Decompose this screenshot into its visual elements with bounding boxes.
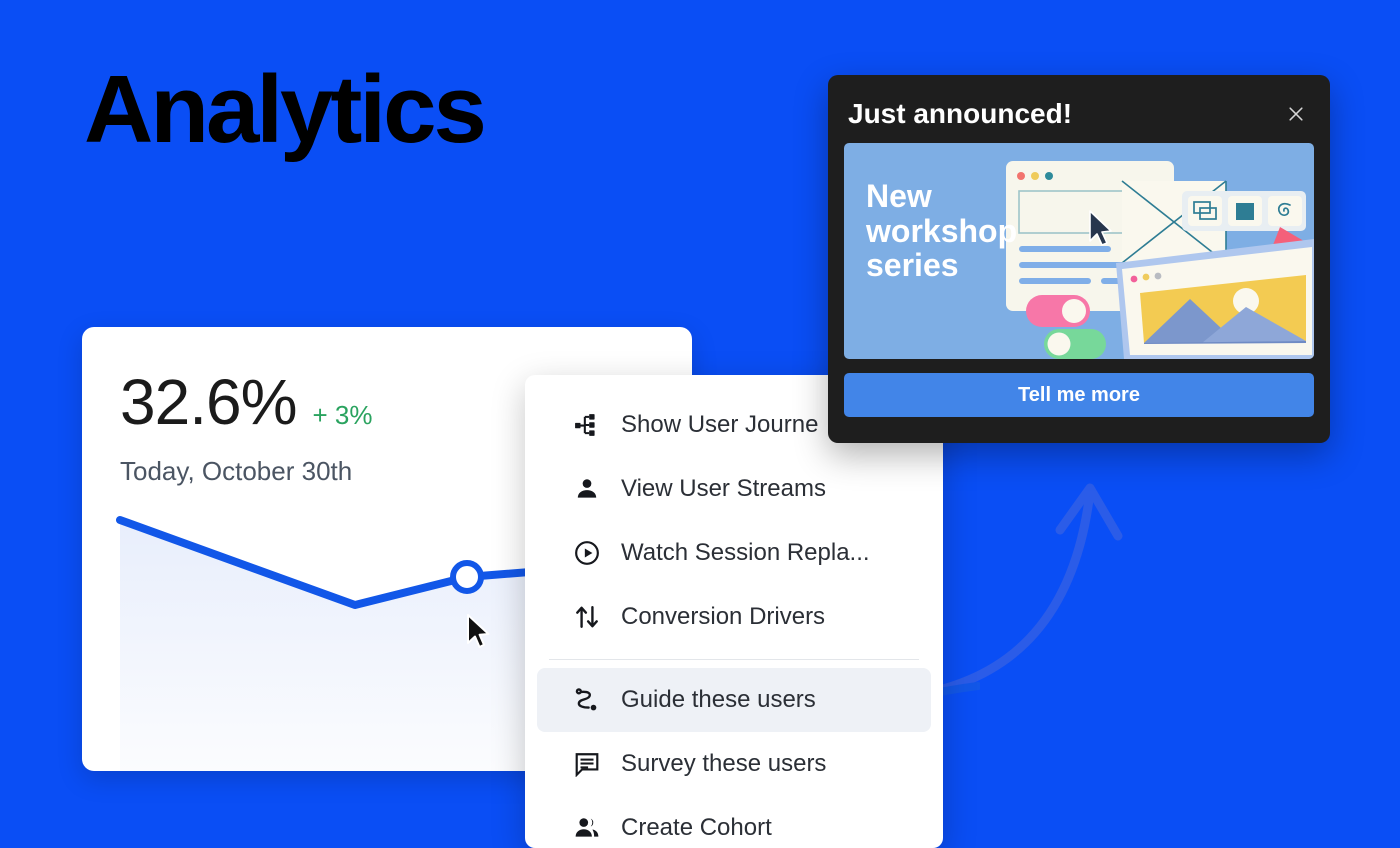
menu-item-survey-these-users[interactable]: Survey these users	[537, 732, 931, 796]
guide-path-icon	[573, 686, 601, 714]
media-text-line-2: workshop	[866, 214, 1017, 249]
media-text-line-1: New	[866, 179, 1017, 214]
page-title: Analytics	[84, 62, 484, 158]
menu-item-label: Create Cohort	[621, 814, 772, 842]
tell-me-more-button[interactable]: Tell me more	[844, 373, 1314, 417]
announcement-media: New workshop series	[844, 143, 1314, 359]
close-icon[interactable]	[1282, 100, 1310, 128]
menu-item-label: Guide these users	[621, 686, 816, 714]
metric-date-label: Today, October 30th	[120, 456, 352, 487]
menu-item-label: Conversion Drivers	[621, 603, 825, 631]
menu-item-view-user-streams[interactable]: View User Streams	[537, 457, 931, 521]
menu-item-label: Show User Journe	[621, 411, 818, 439]
announcement-media-text: New workshop series	[866, 179, 1017, 283]
workshop-illustration	[994, 143, 1314, 359]
metric-row: 32.6% + 3%	[120, 370, 372, 434]
announcement-popup: Just announced! New workshop series	[828, 75, 1330, 443]
person-icon	[573, 475, 601, 503]
menu-item-label: Survey these users	[621, 750, 826, 778]
announcement-title: Just announced!	[848, 98, 1072, 130]
menu-item-watch-session-replay[interactable]: Watch Session Repla...	[537, 521, 931, 585]
metric-delta-badge: + 3%	[312, 400, 372, 431]
menu-item-create-cohort[interactable]: Create Cohort	[537, 796, 931, 848]
people-icon	[573, 814, 601, 842]
hierarchy-icon	[573, 411, 601, 439]
menu-item-label: Watch Session Repla...	[621, 539, 870, 567]
metric-value: 32.6%	[120, 370, 296, 434]
announcement-header: Just announced!	[844, 91, 1314, 135]
media-text-line-3: series	[866, 248, 1017, 283]
sort-arrows-icon	[573, 603, 601, 631]
menu-divider	[549, 659, 919, 660]
play-circle-icon	[573, 539, 601, 567]
survey-bubble-icon	[573, 750, 601, 778]
context-menu: Show User Journe View User Streams Watch…	[525, 375, 943, 848]
menu-item-guide-these-users[interactable]: Guide these users	[537, 668, 931, 732]
menu-item-conversion-drivers[interactable]: Conversion Drivers	[537, 585, 931, 649]
menu-item-label: View User Streams	[621, 475, 826, 503]
